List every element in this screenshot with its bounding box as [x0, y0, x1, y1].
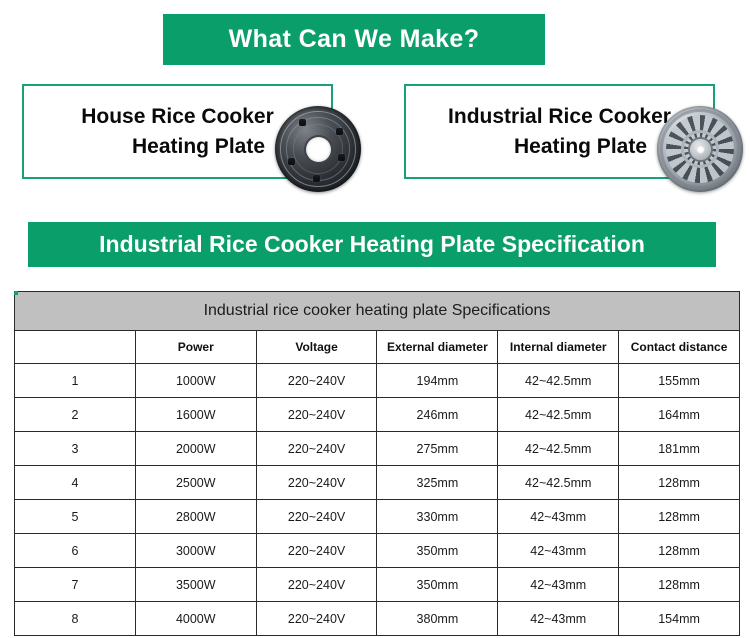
cell-power: 1000W [135, 364, 256, 398]
plate-bolt [299, 119, 306, 126]
cell-contact-distance: 128mm [619, 466, 740, 500]
hero-banner: What Can We Make? [163, 14, 545, 65]
cell-power: 3000W [135, 534, 256, 568]
cell-internal-diameter: 42~42.5mm [498, 466, 619, 500]
cell-index: 2 [15, 398, 136, 432]
cell-voltage: 220~240V [256, 500, 377, 534]
table-row: 8 4000W 220~240V 380mm 42~43mm 154mm [15, 602, 740, 636]
cell-voltage: 220~240V [256, 602, 377, 636]
product-card-industrial[interactable]: Industrial Rice Cooker Heating Plate [404, 84, 715, 179]
cell-external-diameter: 194mm [377, 364, 498, 398]
spec-table-container: Industrial rice cooker heating plate Spe… [14, 291, 740, 636]
product-card-row: House Rice Cooker Heating Plate Industri… [0, 84, 750, 206]
table-row: 3 2000W 220~240V 275mm 42~42.5mm 181mm [15, 432, 740, 466]
cell-external-diameter: 325mm [377, 466, 498, 500]
table-row: 1 1000W 220~240V 194mm 42~42.5mm 155mm [15, 364, 740, 398]
cell-voltage: 220~240V [256, 534, 377, 568]
column-header-power: Power [135, 331, 256, 364]
column-header-voltage: Voltage [256, 331, 377, 364]
cell-voltage: 220~240V [256, 568, 377, 602]
industrial-rice-cooker-heating-plate-photo [657, 106, 743, 192]
cell-contact-distance: 128mm [619, 534, 740, 568]
cell-external-diameter: 275mm [377, 432, 498, 466]
cell-voltage: 220~240V [256, 398, 377, 432]
cell-index: 8 [15, 602, 136, 636]
cell-voltage: 220~240V [256, 466, 377, 500]
product-card-house[interactable]: House Rice Cooker Heating Plate [22, 84, 333, 179]
spec-banner-title: Industrial Rice Cooker Heating Plate Spe… [99, 233, 645, 256]
cell-index: 4 [15, 466, 136, 500]
spec-table-header-row: Power Voltage External diameter Internal… [15, 331, 740, 364]
cell-contact-distance: 164mm [619, 398, 740, 432]
product-title-line1-house: House Rice Cooker [81, 106, 274, 127]
plate-center-hole [696, 145, 705, 154]
cell-external-diameter: 350mm [377, 568, 498, 602]
cell-contact-distance: 128mm [619, 568, 740, 602]
cell-power: 2500W [135, 466, 256, 500]
cell-contact-distance: 181mm [619, 432, 740, 466]
cell-voltage: 220~240V [256, 432, 377, 466]
silver-heating-plate-graphic [657, 106, 743, 192]
house-rice-cooker-heating-plate-photo [275, 106, 361, 192]
table-row: 4 2500W 220~240V 325mm 42~42.5mm 128mm [15, 466, 740, 500]
cell-external-diameter: 246mm [377, 398, 498, 432]
cell-contact-distance: 155mm [619, 364, 740, 398]
cell-power: 1600W [135, 398, 256, 432]
spec-table-body: Industrial rice cooker heating plate Spe… [15, 292, 740, 636]
cell-internal-diameter: 42~43mm [498, 534, 619, 568]
cell-contact-distance: 154mm [619, 602, 740, 636]
table-row: 7 3500W 220~240V 350mm 42~43mm 128mm [15, 568, 740, 602]
spec-banner: Industrial Rice Cooker Heating Plate Spe… [28, 222, 716, 267]
table-row: 2 1600W 220~240V 246mm 42~42.5mm 164mm [15, 398, 740, 432]
product-title-line1-industrial: Industrial Rice Cooker [448, 106, 671, 127]
product-title-line2-industrial: Heating Plate [472, 136, 647, 157]
cell-internal-diameter: 42~42.5mm [498, 432, 619, 466]
hero-title: What Can We Make? [229, 27, 480, 52]
product-title-line2-house: Heating Plate [90, 136, 265, 157]
cell-voltage: 220~240V [256, 364, 377, 398]
plate-center-hole [306, 137, 331, 162]
cell-contact-distance: 128mm [619, 500, 740, 534]
plate-bolt [336, 128, 343, 135]
cell-index: 3 [15, 432, 136, 466]
column-header-external-diameter: External diameter [377, 331, 498, 364]
table-row: 6 3000W 220~240V 350mm 42~43mm 128mm [15, 534, 740, 568]
plate-bolt [338, 154, 345, 161]
cell-power: 2800W [135, 500, 256, 534]
column-header-internal-diameter: Internal diameter [498, 331, 619, 364]
cell-power: 4000W [135, 602, 256, 636]
cell-external-diameter: 380mm [377, 602, 498, 636]
cell-index: 7 [15, 568, 136, 602]
corner-accent-marker [14, 291, 18, 295]
cell-internal-diameter: 42~42.5mm [498, 364, 619, 398]
dark-heating-plate-graphic [275, 106, 361, 192]
table-row: 5 2800W 220~240V 330mm 42~43mm 128mm [15, 500, 740, 534]
specifications-table: Industrial rice cooker heating plate Spe… [14, 291, 740, 636]
cell-external-diameter: 350mm [377, 534, 498, 568]
cell-index: 1 [15, 364, 136, 398]
column-header-contact-distance: Contact distance [619, 331, 740, 364]
column-header-index [15, 331, 136, 364]
plate-bolt [288, 158, 295, 165]
cell-internal-diameter: 42~43mm [498, 602, 619, 636]
cell-power: 3500W [135, 568, 256, 602]
cell-index: 5 [15, 500, 136, 534]
cell-power: 2000W [135, 432, 256, 466]
cell-external-diameter: 330mm [377, 500, 498, 534]
spec-table-caption: Industrial rice cooker heating plate Spe… [15, 292, 740, 331]
plate-bolt [313, 175, 320, 182]
cell-internal-diameter: 42~43mm [498, 568, 619, 602]
cell-internal-diameter: 42~43mm [498, 500, 619, 534]
cell-index: 6 [15, 534, 136, 568]
cell-internal-diameter: 42~42.5mm [498, 398, 619, 432]
spec-table-caption-row: Industrial rice cooker heating plate Spe… [15, 292, 740, 331]
